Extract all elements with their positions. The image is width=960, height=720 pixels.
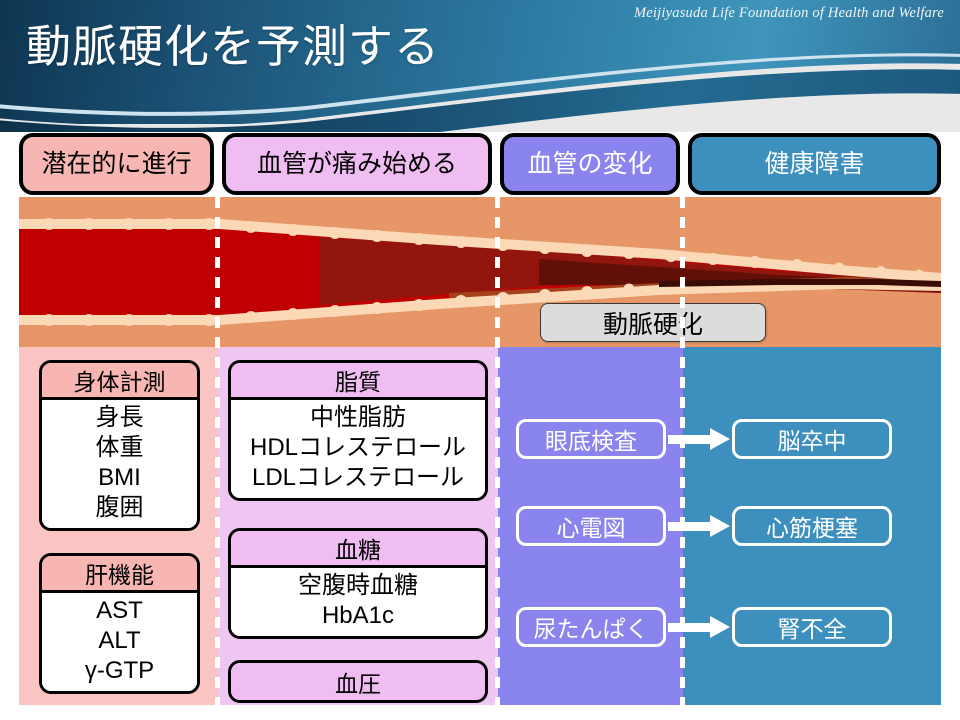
- exam-pill-fundus[interactable]: 眼底検査: [516, 419, 666, 459]
- stage-box-2[interactable]: 血管が痛み始める: [222, 133, 492, 195]
- outcome-pill-myocardial-infarction[interactable]: 心筋梗塞: [732, 506, 892, 546]
- arteriosclerosis-label: 動脈硬化: [540, 303, 766, 342]
- list-item: BMI: [98, 463, 141, 493]
- list-item: HDLコレステロール: [250, 433, 466, 463]
- artery-cross-section: [19, 197, 941, 347]
- outcome-pill-renal-failure[interactable]: 腎不全: [732, 607, 892, 647]
- outcome-pill-stroke[interactable]: 脳卒中: [732, 419, 892, 459]
- card-items: 中性脂肪 HDLコレステロール LDLコレステロール: [231, 400, 485, 498]
- card-items: 身長 体重 BMI 腹囲: [42, 400, 197, 528]
- artery-illustration: [19, 197, 941, 347]
- list-item: 腹囲: [96, 493, 144, 523]
- arrow-icon: [668, 428, 730, 450]
- card-items: AST ALT γ-GTP: [42, 593, 197, 691]
- arrow-icon: [668, 515, 730, 537]
- stage-box-1[interactable]: 潜在的に進行: [19, 133, 214, 195]
- stage-divider-1: [215, 197, 220, 705]
- arrow-shaft: [668, 522, 712, 531]
- list-item: 中性脂肪: [310, 403, 406, 433]
- card-title: 血糖: [231, 531, 485, 568]
- slide: Meijiyasuda Life Foundation of Health an…: [0, 0, 960, 720]
- slide-header: Meijiyasuda Life Foundation of Health an…: [0, 0, 960, 132]
- test-card-lipids[interactable]: 脂質 中性脂肪 HDLコレステロール LDLコレステロール: [228, 360, 488, 501]
- arrow-icon: [668, 616, 730, 638]
- arrow-shaft: [668, 623, 712, 632]
- card-title: 脂質: [231, 363, 485, 400]
- arrow-head: [710, 428, 730, 450]
- card-title: 身体計測: [42, 363, 197, 400]
- test-card-blood-glucose[interactable]: 血糖 空腹時血糖 HbA1c: [228, 528, 488, 639]
- list-item: LDLコレステロール: [252, 463, 464, 493]
- arrow-head: [710, 616, 730, 638]
- test-card-blood-pressure[interactable]: 血圧: [228, 660, 488, 703]
- test-card-liver-function[interactable]: 肝機能 AST ALT γ-GTP: [39, 553, 200, 694]
- list-item: AST: [96, 596, 143, 626]
- stage-box-4[interactable]: 健康障害: [688, 133, 941, 195]
- stage-divider-2: [495, 197, 500, 705]
- card-title: 肝機能: [42, 556, 197, 593]
- exam-pill-urine-protein[interactable]: 尿たんぱく: [516, 607, 666, 647]
- page-title: 動脈硬化を予測する: [26, 18, 440, 76]
- card-items: 空腹時血糖 HbA1c: [231, 568, 485, 636]
- list-item: ALT: [98, 626, 140, 656]
- organization-brand: Meijiyasuda Life Foundation of Health an…: [634, 5, 944, 22]
- arrow-shaft: [668, 435, 712, 444]
- card-title: 血圧: [231, 663, 485, 700]
- arrow-head: [710, 515, 730, 537]
- stage-box-3[interactable]: 血管の変化: [500, 133, 680, 195]
- list-item: 体重: [96, 433, 144, 463]
- list-item: HbA1c: [322, 601, 394, 631]
- list-item: 空腹時血糖: [298, 571, 418, 601]
- list-item: 身長: [96, 403, 144, 433]
- list-item: γ-GTP: [85, 656, 154, 686]
- exam-pill-ecg[interactable]: 心電図: [516, 506, 666, 546]
- test-card-body-measurement[interactable]: 身体計測 身長 体重 BMI 腹囲: [39, 360, 200, 531]
